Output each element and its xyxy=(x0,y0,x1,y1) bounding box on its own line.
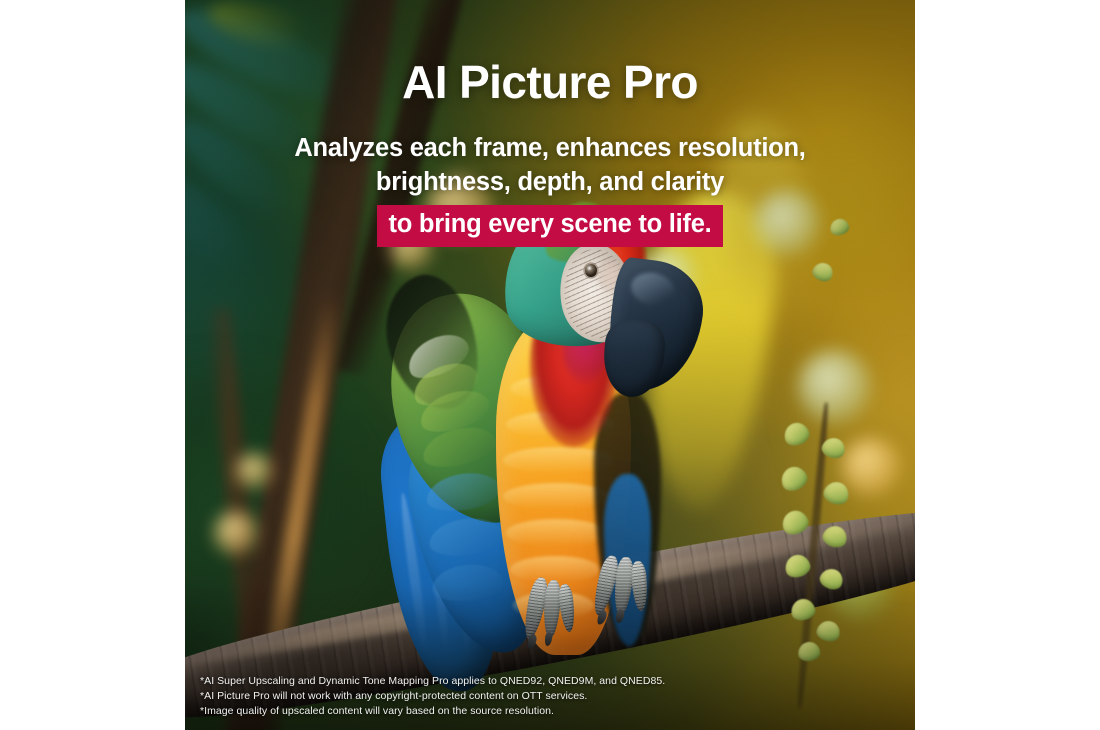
bokeh-light xyxy=(754,190,820,256)
toe xyxy=(630,561,649,612)
parrot-foot-left xyxy=(524,577,590,650)
poster-canvas: AI Picture Pro Analyzes each frame, enha… xyxy=(0,0,1100,730)
claw xyxy=(615,608,624,623)
bokeh-light xyxy=(236,453,273,490)
breast-scallop xyxy=(506,519,607,546)
toe xyxy=(557,583,576,632)
product-photo-panel: AI Picture Pro Analyzes each frame, enha… xyxy=(185,0,915,730)
bokeh-light xyxy=(214,511,258,555)
parrot-foot-right xyxy=(595,555,664,628)
